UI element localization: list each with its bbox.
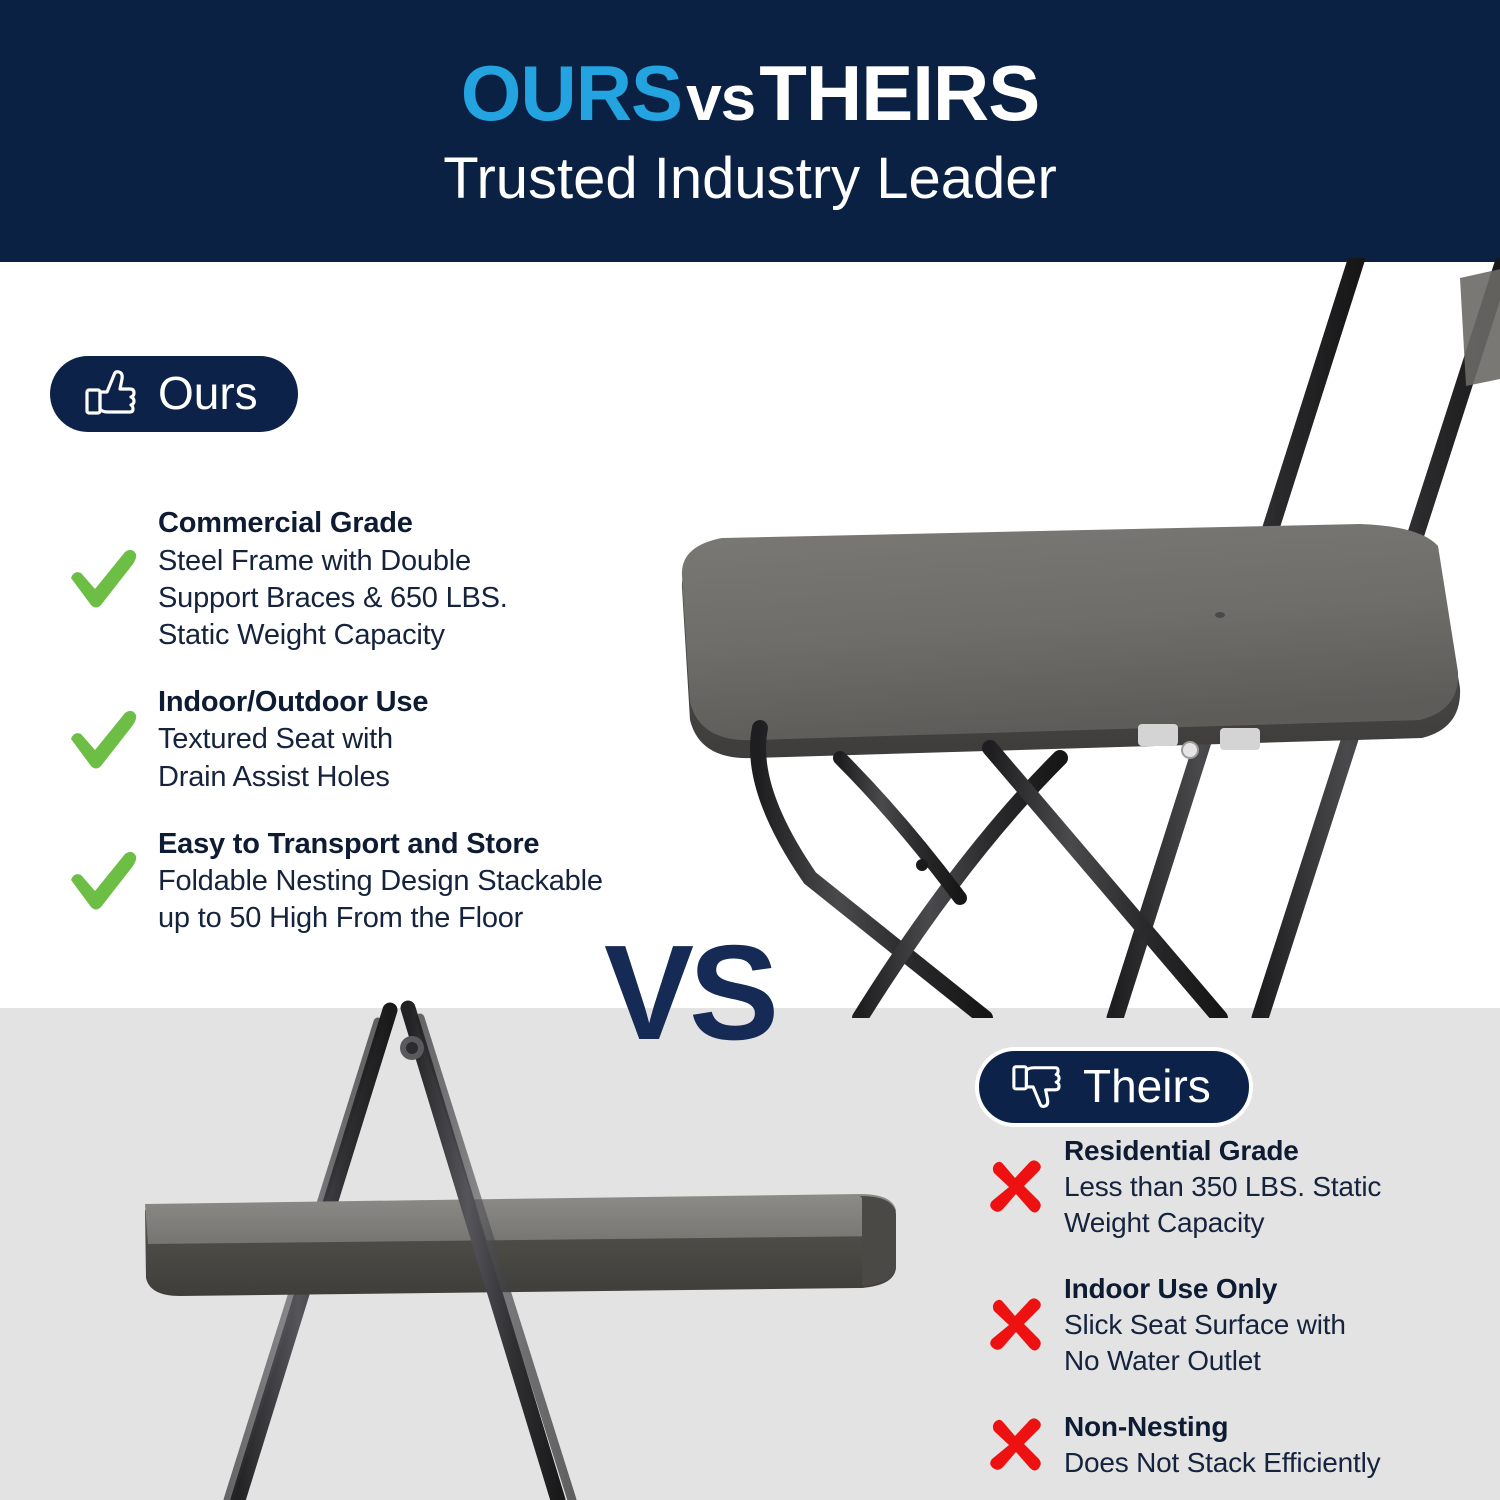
feature-text: Indoor/Outdoor Use Textured Seat with Dr… bbox=[158, 684, 688, 796]
green-check-icon bbox=[67, 709, 139, 771]
commercial-chair-image bbox=[660, 258, 1500, 1018]
ours-badge-label: Ours bbox=[158, 370, 258, 416]
comparison-infographic: OURSvsTHEIRS Trusted Industry Leader bbox=[0, 0, 1500, 1500]
thumbs-up-icon bbox=[84, 368, 136, 418]
title-vs: vs bbox=[682, 62, 759, 134]
feature-title: Easy to Transport and Store bbox=[158, 826, 688, 863]
feature-desc: Does Not Stack Efficiently bbox=[1064, 1445, 1488, 1481]
green-check-icon bbox=[67, 548, 139, 610]
feature-desc: Slick Seat Surface with No Water Outlet bbox=[1064, 1307, 1488, 1379]
red-x-icon bbox=[987, 1296, 1045, 1354]
check-mark-cell bbox=[48, 850, 158, 912]
check-mark-cell bbox=[48, 548, 158, 610]
theirs-feature-list: Residential Grade Less than 350 LBS. Sta… bbox=[968, 1133, 1488, 1481]
list-item: Commercial Grade Steel Frame with Double… bbox=[48, 505, 688, 654]
feature-desc: Less than 350 LBS. Static Weight Capacit… bbox=[1064, 1169, 1488, 1241]
thumbs-down-icon bbox=[1011, 1061, 1061, 1111]
red-x-icon bbox=[987, 1416, 1045, 1474]
feature-desc: Textured Seat with Drain Assist Holes bbox=[158, 721, 688, 795]
feature-text: Indoor Use Only Slick Seat Surface with … bbox=[1064, 1271, 1488, 1379]
feature-title: Residential Grade bbox=[1064, 1133, 1488, 1168]
theirs-badge-label: Theirs bbox=[1083, 1063, 1211, 1109]
ours-feature-list: Commercial Grade Steel Frame with Double… bbox=[48, 505, 688, 937]
feature-title: Indoor/Outdoor Use bbox=[158, 684, 688, 721]
feature-title: Commercial Grade bbox=[158, 505, 688, 542]
feature-title: Indoor Use Only bbox=[1064, 1271, 1488, 1306]
list-item: Residential Grade Less than 350 LBS. Sta… bbox=[968, 1133, 1488, 1241]
list-item: Indoor/Outdoor Use Textured Seat with Dr… bbox=[48, 684, 688, 796]
feature-text: Non-Nesting Does Not Stack Efficiently bbox=[1064, 1409, 1488, 1481]
check-mark-cell bbox=[48, 709, 158, 771]
x-mark-cell bbox=[968, 1296, 1064, 1354]
theirs-badge: Theirs bbox=[975, 1047, 1253, 1127]
header-banner: OURSvsTHEIRS Trusted Industry Leader bbox=[0, 0, 1500, 262]
list-item: Easy to Transport and Store Foldable Nes… bbox=[48, 826, 688, 938]
x-mark-cell bbox=[968, 1158, 1064, 1216]
list-item: Non-Nesting Does Not Stack Efficiently bbox=[968, 1409, 1488, 1481]
green-check-icon bbox=[67, 850, 139, 912]
x-mark-cell bbox=[968, 1416, 1064, 1474]
feature-text: Residential Grade Less than 350 LBS. Sta… bbox=[1064, 1133, 1488, 1241]
title-theirs: THEIRS bbox=[759, 49, 1039, 137]
red-x-icon bbox=[987, 1158, 1045, 1216]
title-ours: OURS bbox=[461, 49, 682, 137]
feature-desc: Steel Frame with Double Support Braces &… bbox=[158, 543, 688, 654]
feature-text: Commercial Grade Steel Frame with Double… bbox=[158, 505, 688, 654]
residential-chair-image bbox=[60, 1000, 940, 1500]
page-subtitle: Trusted Industry Leader bbox=[443, 150, 1057, 208]
ours-badge: Ours bbox=[50, 356, 298, 432]
page-title: OURSvsTHEIRS bbox=[461, 54, 1040, 132]
list-item: Indoor Use Only Slick Seat Surface with … bbox=[968, 1271, 1488, 1379]
vs-divider-label: VS bbox=[604, 925, 774, 1060]
feature-title: Non-Nesting bbox=[1064, 1409, 1488, 1444]
